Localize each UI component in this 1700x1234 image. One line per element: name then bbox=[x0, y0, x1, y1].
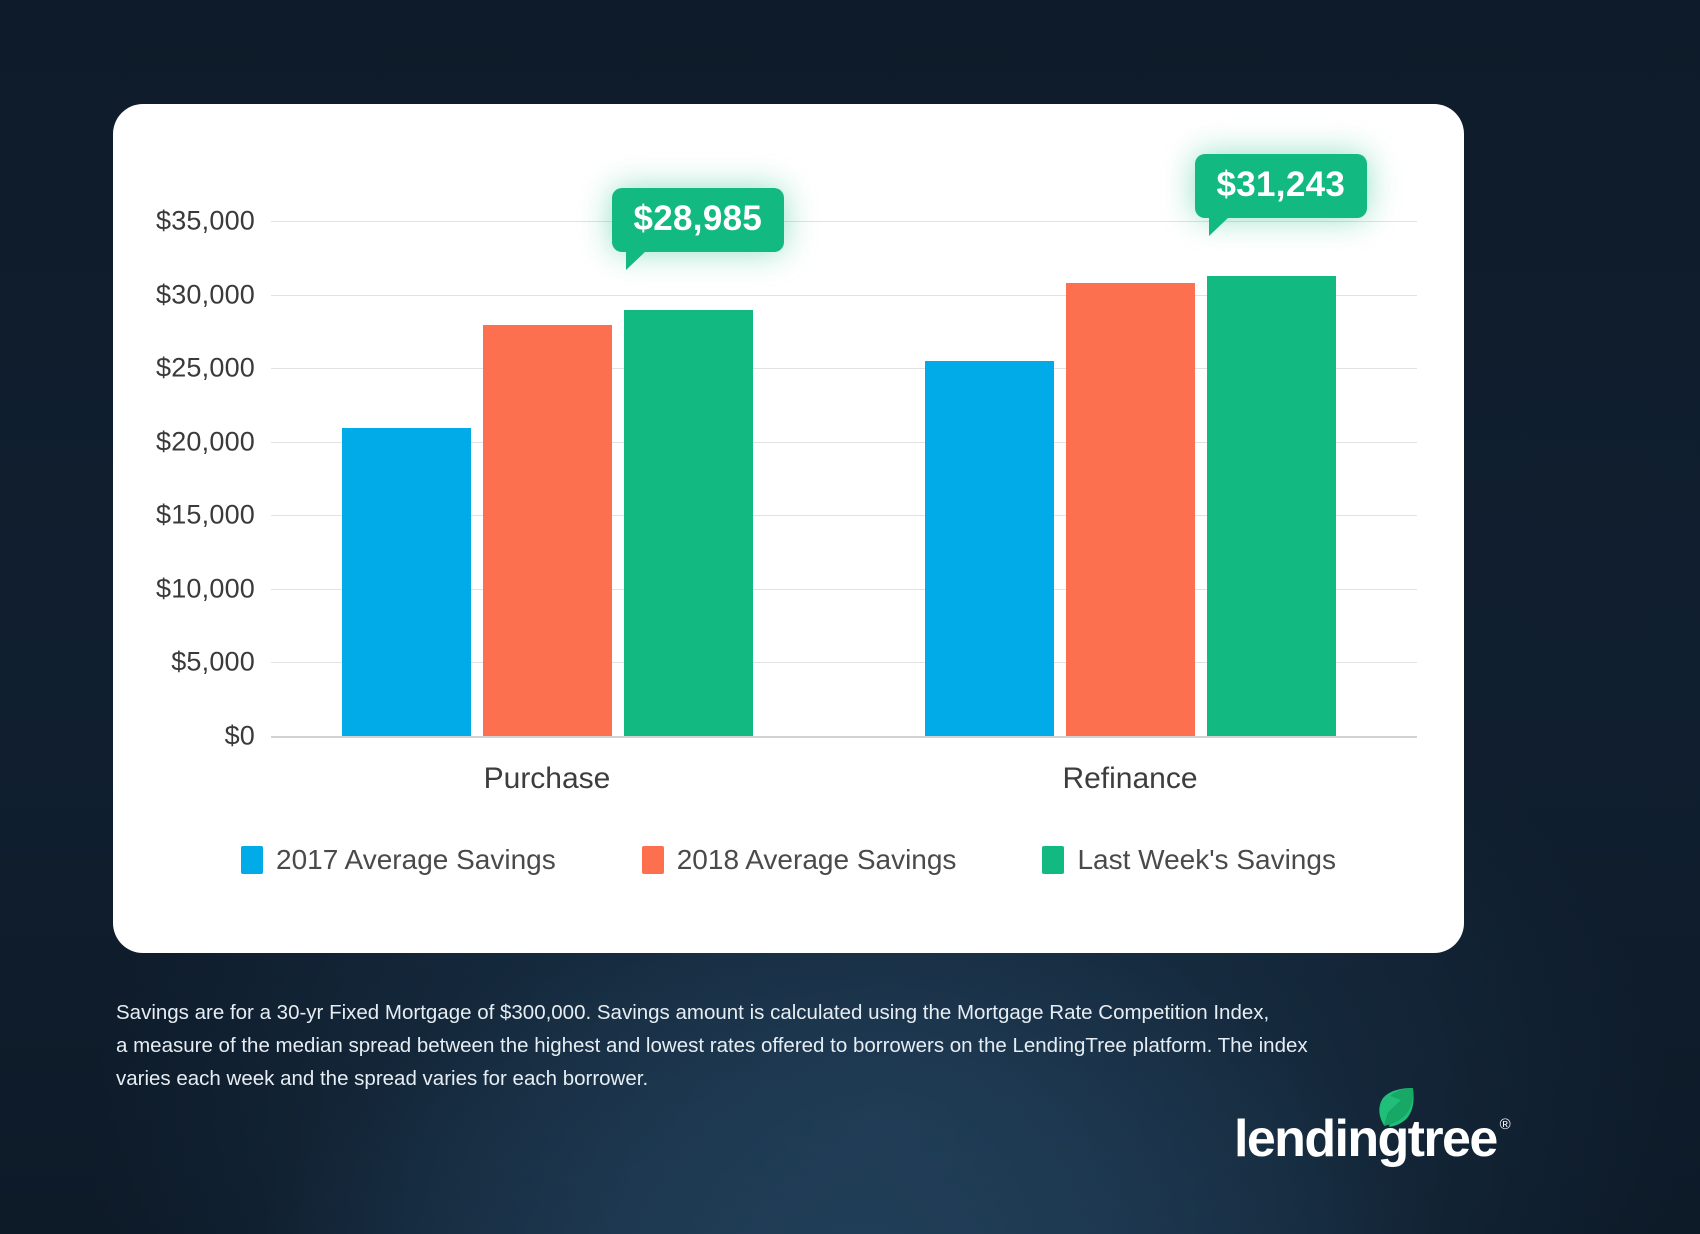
category-label-refinance: Refinance bbox=[1062, 762, 1197, 796]
y-axis-tick-label: $25,000 bbox=[95, 353, 255, 384]
footnote-line-3: varies each week and the spread varies f… bbox=[116, 1062, 1126, 1095]
category-label-purchase: Purchase bbox=[484, 762, 611, 796]
y-axis-tick-label: $35,000 bbox=[95, 206, 255, 237]
legend-label: 2017 Average Savings bbox=[276, 844, 556, 876]
y-axis-tick-label: $5,000 bbox=[95, 647, 255, 678]
lendingtree-logo: lendingtree ® bbox=[1234, 1096, 1511, 1165]
chart-legend: 2017 Average Savings2018 Average Savings… bbox=[113, 844, 1464, 876]
registered-trademark-symbol: ® bbox=[1500, 1116, 1511, 1133]
bar-purchase-3[interactable] bbox=[624, 310, 753, 736]
bar-refinance-1[interactable] bbox=[925, 361, 1054, 736]
axis-baseline bbox=[271, 736, 1417, 738]
legend-swatch-icon bbox=[241, 846, 263, 874]
footnote-line-1: Savings are for a 30-yr Fixed Mortgage o… bbox=[116, 996, 1126, 1029]
legend-swatch-icon bbox=[642, 846, 664, 874]
y-axis-tick-label: $20,000 bbox=[95, 426, 255, 457]
bar-refinance-3[interactable] bbox=[1207, 276, 1336, 736]
value-callout-purchase: $28,985 bbox=[612, 188, 785, 252]
legend-swatch-icon bbox=[1042, 846, 1064, 874]
gridline bbox=[271, 221, 1417, 222]
chart-card: $0$5,000$10,000$15,000$20,000$25,000$30,… bbox=[113, 104, 1464, 953]
bar-purchase-2[interactable] bbox=[483, 325, 612, 736]
legend-label: 2018 Average Savings bbox=[677, 844, 957, 876]
bar-purchase-1[interactable] bbox=[342, 428, 471, 736]
legend-item-1[interactable]: 2017 Average Savings bbox=[241, 844, 556, 876]
footnote: Savings are for a 30-yr Fixed Mortgage o… bbox=[116, 996, 1126, 1095]
leaf-icon bbox=[1378, 1087, 1414, 1129]
y-axis-tick-label: $0 bbox=[95, 721, 255, 752]
y-axis-tick-label: $10,000 bbox=[95, 573, 255, 604]
legend-label: Last Week's Savings bbox=[1077, 844, 1336, 876]
logo-wordmark-text: lendingtree bbox=[1234, 1096, 1497, 1165]
bar-refinance-2[interactable] bbox=[1066, 283, 1195, 736]
legend-item-3[interactable]: Last Week's Savings bbox=[1042, 844, 1336, 876]
legend-item-2[interactable]: 2018 Average Savings bbox=[642, 844, 957, 876]
y-axis-tick-label: $15,000 bbox=[95, 500, 255, 531]
value-callout-refinance: $31,243 bbox=[1195, 154, 1368, 218]
bar-chart-plot: $0$5,000$10,000$15,000$20,000$25,000$30,… bbox=[113, 104, 1464, 953]
y-axis-tick-label: $30,000 bbox=[95, 279, 255, 310]
footnote-line-2: a measure of the median spread between t… bbox=[116, 1029, 1126, 1062]
